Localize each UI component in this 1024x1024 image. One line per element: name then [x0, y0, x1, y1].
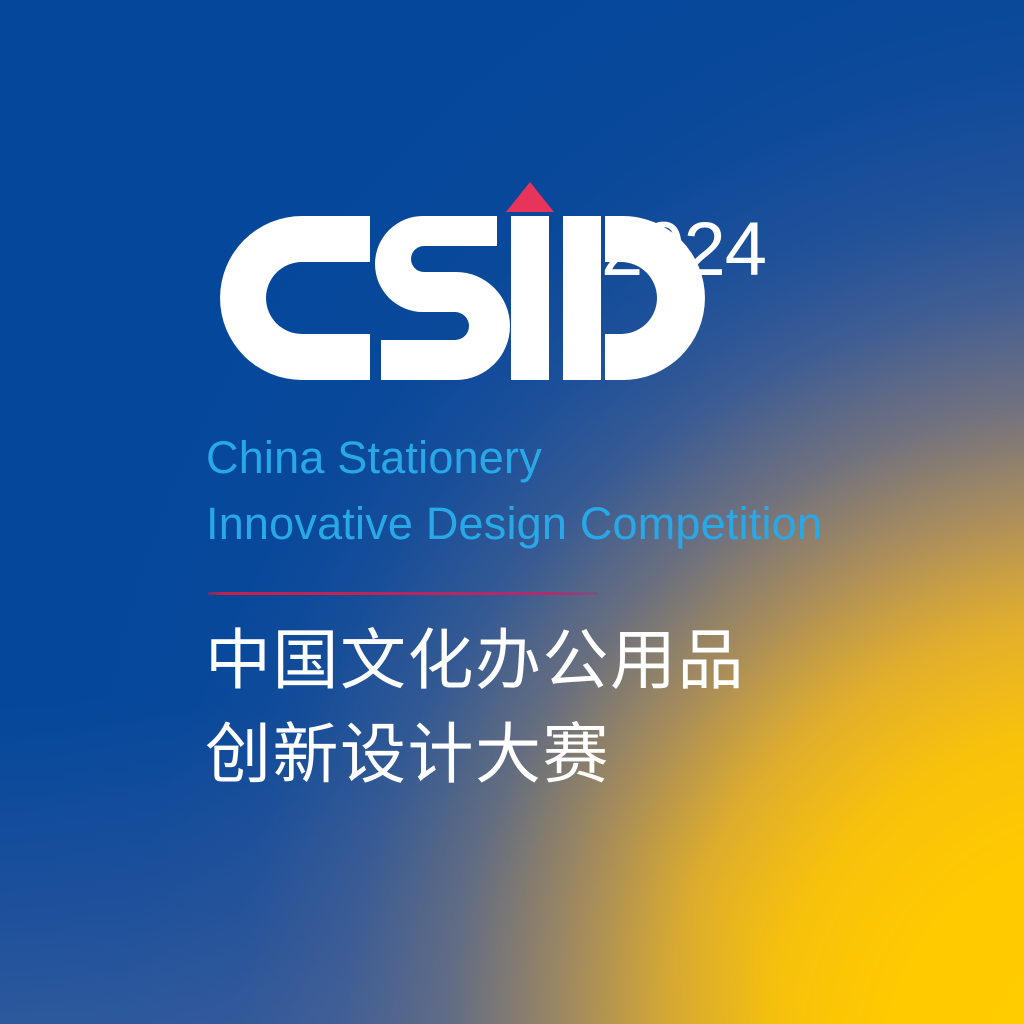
- pencil-tip-icon: [506, 182, 554, 212]
- logo-letter-c: [220, 216, 370, 380]
- logo-year: 2024: [601, 212, 766, 288]
- logo-letter-i: [511, 216, 549, 380]
- chinese-title-line-1: 中国文化办公用品: [205, 628, 745, 694]
- divider-rule: [208, 592, 598, 595]
- english-title-line-2: Innovative Design Competition: [206, 501, 822, 546]
- chinese-title-line-2: 创新设计大赛: [205, 722, 610, 788]
- logo-letter-s: [372, 216, 510, 380]
- poster-canvas: 2024 China Stationery Innovative Design …: [0, 0, 1024, 1024]
- poster-content: 2024 China Stationery Innovative Design …: [0, 0, 1024, 1024]
- english-title-line-1: China Stationery: [206, 435, 542, 480]
